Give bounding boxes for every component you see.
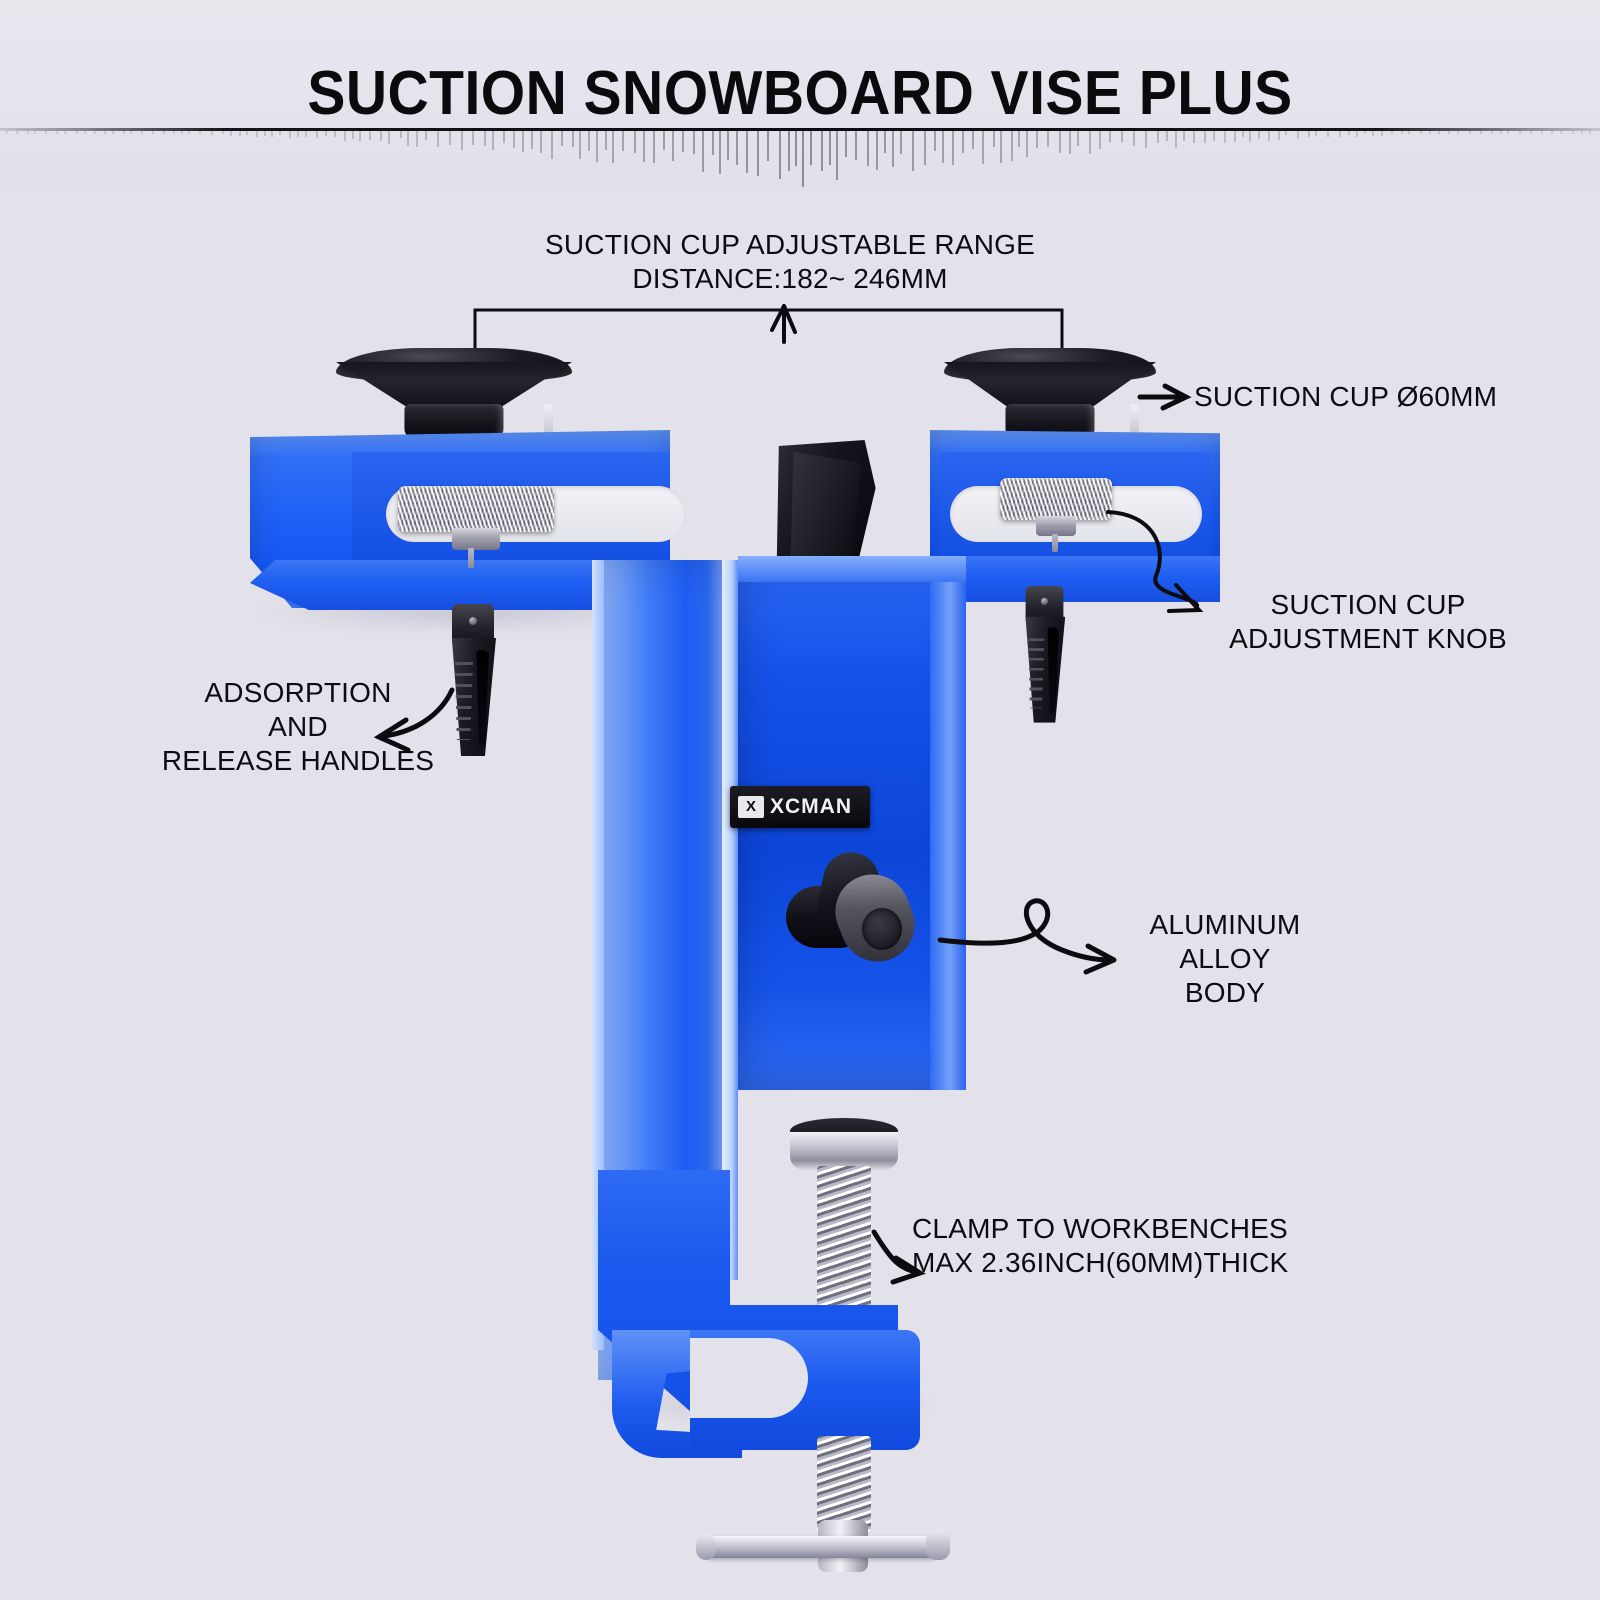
annotation-adsorption-release-handles: ADSORPTION AND RELEASE HANDLES [118, 676, 478, 778]
aluminum-alloy-body-rim [930, 560, 966, 1090]
suction-cup-right-highlight [1130, 404, 1139, 434]
suction-cup-left-skirt [336, 362, 572, 410]
suction-cup-right-skirt [944, 362, 1156, 410]
knob-left-stem [452, 528, 500, 550]
suction-cup-left-highlight [544, 404, 553, 434]
knob-left-tip [468, 548, 474, 568]
clamp-screw-collar [790, 1132, 898, 1170]
suction-cup-left-hub [404, 404, 503, 438]
star-knob-center-hole [862, 908, 902, 950]
release-handle-right[interactable] [1022, 586, 1067, 721]
suction-cup-adjustment-knob-left[interactable] [398, 486, 554, 532]
clamp-screw-lower-thread [817, 1436, 871, 1532]
annotation-suction-cup-range: SUCTION CUP ADJUSTABLE RANGE DISTANCE:18… [440, 228, 1140, 296]
aluminum-alloy-body-top-lip [738, 556, 966, 582]
brand-logo-mark: X [738, 796, 764, 818]
product-infographic: SUCTION SNOWBOARD VISE PLUS [0, 0, 1600, 1600]
annotation-suction-cup-diameter: SUCTION CUP Ø60MM [1194, 380, 1594, 414]
annotation-clamp-to-workbenches: CLAMP TO WORKBENCHES MAX 2.36INCH(60MM)T… [912, 1212, 1342, 1280]
knob-right-stem [1036, 516, 1076, 536]
crossbar-right-lip [930, 556, 1220, 602]
clamp-tbar-cap-left [696, 1534, 716, 1560]
clamp-c-opening [690, 1338, 808, 1418]
brand-badge: X XCMAN [730, 786, 870, 828]
suction-cup-adjustment-knob-right[interactable] [1000, 478, 1112, 520]
release-handle-right-grip-ribs [1028, 638, 1044, 708]
clamp-tbar-cap-right [926, 1530, 950, 1560]
annotation-aluminum-alloy-body: ALUMINUM ALLOY BODY [1100, 908, 1350, 1010]
suction-cup-left [336, 348, 572, 442]
annotation-suction-cup-adjustment-knob: SUCTION CUP ADJUSTMENT KNOB [1178, 588, 1558, 656]
brand-name-text: XCMAN [770, 795, 852, 819]
clamp-tbar-handle[interactable] [702, 1536, 940, 1558]
body-locking-star-knob[interactable] [786, 852, 916, 962]
knob-right-tip [1052, 534, 1058, 552]
suction-cup-right [944, 348, 1156, 442]
